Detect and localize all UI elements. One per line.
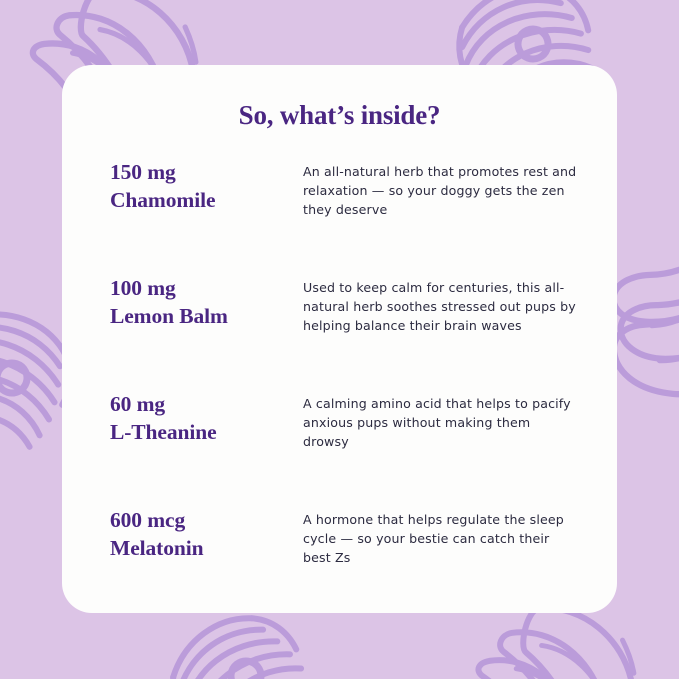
supplement-ingredients-graphic: So, what’s inside? 150 mg Chamomile An a… <box>0 0 679 679</box>
ingredient-description: An all-natural herb that promotes rest a… <box>303 162 578 219</box>
ingredient-heading: 150 mg Chamomile <box>110 159 305 214</box>
ingredient-name: Lemon Balm <box>110 303 305 331</box>
ingredient-description: A hormone that helps regulate the sleep … <box>303 510 578 567</box>
ingredient-name: L-Theanine <box>110 419 305 447</box>
ingredient-dose: 600 mcg <box>110 507 305 535</box>
ingredient-dose: 100 mg <box>110 275 305 303</box>
ingredient-description: Used to keep calm for centuries, this al… <box>303 278 578 335</box>
page-title: So, what’s inside? <box>62 100 617 131</box>
ingredient-name: Chamomile <box>110 187 305 215</box>
ingredient-list: 150 mg Chamomile An all-natural herb tha… <box>62 159 617 623</box>
list-item: 100 mg Lemon Balm Used to keep calm for … <box>62 275 617 391</box>
ingredients-card: So, what’s inside? 150 mg Chamomile An a… <box>62 65 617 613</box>
list-item: 60 mg L-Theanine A calming amino acid th… <box>62 391 617 507</box>
ingredient-heading: 600 mcg Melatonin <box>110 507 305 562</box>
ingredient-heading: 100 mg Lemon Balm <box>110 275 305 330</box>
ingredient-description: A calming amino acid that helps to pacif… <box>303 394 578 451</box>
ingredient-dose: 60 mg <box>110 391 305 419</box>
ingredient-heading: 60 mg L-Theanine <box>110 391 305 446</box>
ingredient-dose: 150 mg <box>110 159 305 187</box>
list-item: 150 mg Chamomile An all-natural herb tha… <box>62 159 617 275</box>
list-item: 600 mcg Melatonin A hormone that helps r… <box>62 507 617 623</box>
ingredient-name: Melatonin <box>110 535 305 563</box>
